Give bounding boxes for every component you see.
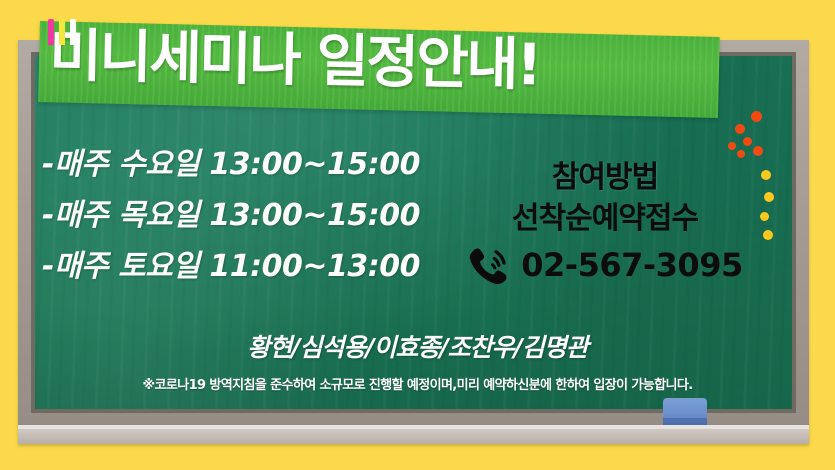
phone-call-icon xyxy=(467,245,511,285)
decorative-dot xyxy=(764,192,774,202)
decorative-dot xyxy=(728,142,736,150)
decorative-dot xyxy=(760,212,769,221)
schedule-item-wednesday: -매주 수요일 13:00~15:00 xyxy=(42,150,442,180)
phone-row[interactable]: 02-567-3095 xyxy=(440,245,770,285)
phone-number: 02-567-3095 xyxy=(521,246,742,284)
board-eraser xyxy=(663,398,707,426)
seminar-poster: 미니세미나 일정안내! -매주 수요일 13:00~15:00 -매주 목요일 … xyxy=(0,0,835,470)
decorative-dot xyxy=(737,150,745,158)
footnote-notice: ※코로나19 방역지침을 준수하여 소규모로 진행할 예정이며,미리 예약하신분… xyxy=(0,374,835,393)
participation-heading: 참여방법 xyxy=(440,160,770,195)
schedule-item-thursday: -매주 목요일 13:00~15:00 xyxy=(42,201,442,231)
decorative-dot xyxy=(751,111,762,122)
ledge-lip xyxy=(18,425,809,429)
decorative-dot xyxy=(743,137,752,146)
white-chalk xyxy=(70,19,76,45)
decorative-dot xyxy=(763,230,773,240)
schedule-list: -매주 수요일 13:00~15:00 -매주 목요일 13:00~15:00 … xyxy=(42,150,442,303)
decorative-dot xyxy=(735,124,745,134)
decorative-dot xyxy=(753,146,763,156)
participation-info: 참여방법 선착순예약접수 02-567-3095 xyxy=(440,160,770,285)
presenter-names: 황현/심석용/이효종/조찬우/김명관 xyxy=(0,328,835,364)
schedule-item-saturday: -매주 토요일 11:00~13:00 xyxy=(42,252,442,282)
yellow-chalk xyxy=(59,19,65,45)
participation-method: 선착순예약접수 xyxy=(440,201,770,236)
pink-chalk xyxy=(48,19,54,45)
page-title: 미니세미나 일정안내! xyxy=(49,28,710,98)
chalk-ledge xyxy=(18,425,809,444)
decorative-dot xyxy=(761,170,771,180)
